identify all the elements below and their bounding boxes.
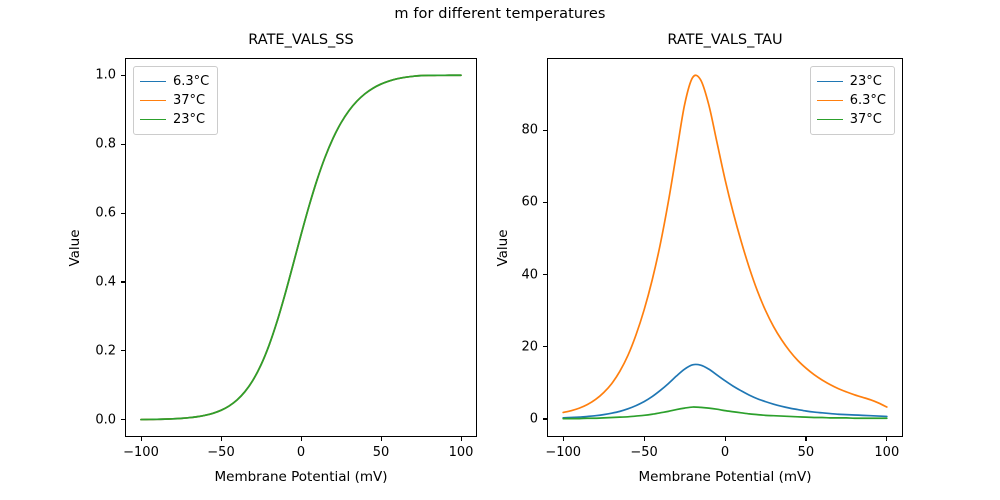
xtick-label-tau-0: −100: [545, 445, 581, 460]
legend-ss[interactable]: 6.3°C37°C23°C: [133, 66, 218, 135]
ytick-mark-tau-2: [543, 274, 547, 275]
legend-swatch-icon-ss-2: [140, 119, 166, 120]
legend-entry-ss-2[interactable]: 23°C: [140, 110, 209, 129]
legend-swatch-icon-tau-0: [817, 81, 843, 82]
legend-label-ss-0: 6.3°C: [173, 74, 209, 89]
xtick-label-ss-2: 0: [297, 445, 305, 460]
ytick-label-ss-4: 0.8: [95, 137, 116, 152]
legend-swatch-icon-tau-1: [817, 100, 843, 101]
xtick-label-ss-1: −50: [207, 445, 234, 460]
ytick-label-ss-0: 0.0: [95, 412, 116, 427]
ytick-label-tau-3: 60: [521, 195, 538, 210]
legend-swatch-icon-ss-1: [140, 100, 166, 101]
ytick-label-ss-2: 0.4: [95, 274, 116, 289]
ylabel-tau: Value: [495, 229, 511, 266]
ytick-mark-tau-3: [543, 202, 547, 203]
legend-swatch-icon-tau-2: [817, 119, 843, 120]
xtick-mark-ss-1: [221, 437, 222, 441]
ytick-label-tau-4: 80: [521, 123, 538, 138]
ytick-mark-tau-4: [543, 130, 547, 131]
ytick-label-ss-1: 0.2: [95, 343, 116, 358]
ytick-mark-ss-0: [121, 419, 125, 420]
ytick-mark-tau-0: [543, 418, 547, 419]
legend-label-tau-0: 23°C: [850, 74, 882, 89]
xlabel-ss: Membrane Potential (mV): [125, 469, 477, 485]
xtick-mark-tau-0: [563, 437, 564, 441]
xtick-label-tau-4: 100: [874, 445, 899, 460]
axes-title-tau: RATE_VALS_TAU: [547, 32, 903, 48]
axes-ss: RATE_VALS_SS−100−500501000.00.20.40.60.8…: [125, 58, 477, 437]
xtick-label-ss-0: −100: [123, 445, 159, 460]
legend-swatch-icon-ss-0: [140, 81, 166, 82]
xtick-label-tau-2: 0: [721, 445, 729, 460]
xtick-mark-ss-2: [301, 437, 302, 441]
legend-label-tau-1: 6.3°C: [850, 93, 886, 108]
legend-entry-tau-0[interactable]: 23°C: [817, 72, 886, 91]
ytick-mark-tau-1: [543, 346, 547, 347]
xtick-label-ss-4: 100: [449, 445, 474, 460]
legend-label-tau-2: 37°C: [850, 112, 882, 127]
legend-tau[interactable]: 23°C6.3°C37°C: [810, 66, 895, 135]
xtick-label-tau-1: −50: [630, 445, 657, 460]
ytick-mark-ss-5: [121, 75, 125, 76]
ytick-mark-ss-1: [121, 350, 125, 351]
xtick-mark-ss-3: [381, 437, 382, 441]
figure-suptitle: m for different temperatures: [0, 6, 1000, 22]
xlabel-tau: Membrane Potential (mV): [547, 469, 903, 485]
axes-tau: RATE_VALS_TAU−100−50050100020406080Membr…: [547, 58, 903, 437]
matplotlib-figure: m for different temperatures RATE_VALS_S…: [0, 0, 1000, 500]
xtick-mark-tau-2: [725, 437, 726, 441]
legend-label-ss-1: 37°C: [173, 93, 205, 108]
xtick-label-tau-3: 50: [798, 445, 815, 460]
legend-entry-tau-2[interactable]: 37°C: [817, 110, 886, 129]
ytick-label-ss-3: 0.6: [95, 206, 116, 221]
legend-label-ss-2: 23°C: [173, 112, 205, 127]
ytick-label-tau-2: 40: [521, 267, 538, 282]
legend-entry-ss-1[interactable]: 37°C: [140, 91, 209, 110]
xtick-mark-tau-4: [886, 437, 887, 441]
xtick-mark-ss-4: [461, 437, 462, 441]
xtick-label-ss-3: 50: [373, 445, 390, 460]
ytick-mark-ss-4: [121, 144, 125, 145]
ytick-label-ss-5: 1.0: [95, 68, 116, 83]
legend-entry-ss-0[interactable]: 6.3°C: [140, 72, 209, 91]
xtick-mark-tau-3: [805, 437, 806, 441]
ytick-label-tau-0: 0: [530, 411, 538, 426]
xtick-mark-tau-1: [644, 437, 645, 441]
ytick-label-tau-1: 20: [521, 339, 538, 354]
axes-title-ss: RATE_VALS_SS: [125, 32, 477, 48]
legend-entry-tau-1[interactable]: 6.3°C: [817, 91, 886, 110]
ytick-mark-ss-2: [121, 281, 125, 282]
xtick-mark-ss-0: [141, 437, 142, 441]
ytick-mark-ss-3: [121, 213, 125, 214]
ylabel-ss: Value: [67, 229, 83, 266]
